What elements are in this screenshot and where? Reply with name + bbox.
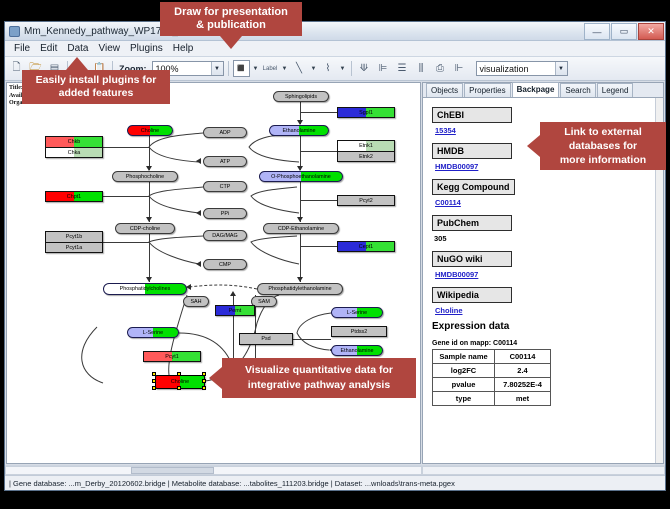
expression-value: 7.80252E-4 [495,378,551,392]
callout-link-line3: more information [560,153,646,167]
arrowhead-icon [146,277,152,282]
callout-draw-line2: & publication [196,19,266,32]
expression-key: Sample name [433,350,495,364]
status-bar: | Gene database: ...m_Derby_20120602.bri… [5,475,665,490]
minimize-button[interactable]: — [584,23,610,40]
gene-node[interactable]: Pcyt2 [337,195,395,206]
gene-row: Pemt [216,306,254,315]
gene-node[interactable]: Cept1 [337,241,395,252]
toolbar-separator [228,61,229,76]
print-icon[interactable]: ⎙ [432,60,449,77]
selection-handle[interactable] [152,379,156,383]
callout-visualize-line1: Visualize quantitative data for [245,363,393,378]
gene-label: Pemt [229,308,242,314]
gene-label: Etnk1 [359,143,373,149]
metabolite-label: Sphingolipids [285,94,317,100]
window-controls: — ▭ ✕ [584,22,665,40]
gene-node[interactable]: Pcyt1bPcyt1a [45,231,103,253]
align-left-icon[interactable]: ⊫ [375,60,392,77]
gene-row: Pcyt1b [46,232,102,242]
title-bar: Mm_Kennedy_pathway_WP1771_45176.gpml — ▭… [5,22,665,41]
metabolite-node[interactable]: L-Serine [127,327,179,338]
selection-handle[interactable] [202,372,206,376]
metabolite-label: L-Serine [143,330,163,336]
menu-plugins[interactable]: Plugins [125,42,168,56]
arrowhead-icon [297,277,303,282]
metabolite-label: SAH [190,299,201,305]
metabolite-label: CDP-Ethanolamine [278,226,324,232]
arrowhead-icon [196,261,201,267]
gene-label: Pcyt1 [165,354,178,360]
callout-draw-tail-icon [220,36,242,49]
gene-label: Chkb [68,139,81,145]
arrowhead-icon [230,291,236,296]
metabolite-label: SAM [258,299,270,305]
edge-psd-connector [293,339,331,340]
metabolite-label: ATP [220,159,230,165]
gene-node[interactable]: Pemt [215,305,255,316]
menu-data[interactable]: Data [62,42,93,56]
metabolite-node[interactable]: PPi [203,208,247,219]
database-link[interactable]: Choline [435,306,663,315]
database-name: ChEBI [432,107,512,123]
screenshot-root: Mm_Kennedy_pathway_WP1771_45176.gpml — ▭… [0,0,670,509]
label-chevron-down-icon[interactable]: ▼ [281,66,289,72]
callout-link-tail-icon [527,135,540,157]
callout-plugins-line1: Easily install plugins for [36,74,157,87]
line-chevron-down-icon[interactable]: ▼ [310,66,318,72]
gene-label: Pcyt1b [66,234,82,240]
menu-file[interactable]: File [9,42,35,56]
anchor-chevron-down-icon[interactable]: ▼ [339,66,347,72]
menu-edit[interactable]: Edit [35,42,62,56]
metabolite-node[interactable]: CDP-choline [115,223,175,234]
distribute-icon[interactable]: ⫼ [413,60,430,77]
database-block: NuGO wikiHMDB00097 [432,249,663,279]
metabolite-node[interactable]: SAH [183,296,209,307]
arrowhead-icon [196,210,201,216]
database-name: Wikipedia [432,287,512,303]
database-name: NuGO wiki [432,251,512,267]
expression-key: type [433,392,495,406]
maximize-button[interactable]: ▭ [611,23,637,40]
horizontal-scroll-row [5,465,665,475]
metabolite-label: Ethanolamine [283,128,316,134]
metabolite-node[interactable]: Ethanolamine [331,345,383,356]
database-name: PubChem [432,215,512,231]
callout-link-line2: databases for [569,139,637,153]
selection-handle[interactable] [152,386,156,390]
status-text: | Gene database: ...m_Derby_20120602.bri… [9,479,455,488]
database-value: 305 [434,234,663,243]
metabolite-label: CDP-choline [130,226,160,232]
menu-view[interactable]: View [93,42,125,56]
gene-row: Ptdss2 [332,327,386,336]
selection-handle[interactable] [152,372,156,376]
gene-node[interactable]: ChkbChka [45,136,103,158]
callout-draw-line1: Draw for presentation [174,6,288,19]
gene-label: Ptdss2 [351,329,367,335]
metabolite-node[interactable]: Phosphocholine [112,171,178,182]
metabolite-label: PPi [221,211,229,217]
gene-label: Cept1 [359,244,373,250]
metabolite-node[interactable]: Sphingolipids [273,91,329,102]
gene-node[interactable]: Pcyt1 [143,351,201,362]
callout-plugins: Easily install plugins for added feature… [22,70,170,104]
database-block: PubChem305 [432,213,663,243]
database-block: Kegg CompoundC00114 [432,177,663,207]
canvas-hscrollbar[interactable] [5,466,422,475]
arrowhead-icon [146,217,152,222]
arrowhead-icon [297,217,303,222]
callout-draw: Draw for presentation & publication [160,2,302,36]
gene-node[interactable]: Psd [239,333,293,345]
visualization-value: visualization [480,64,529,74]
gene-row: Pcyt1a [46,242,102,252]
anchor-icon[interactable]: ⌇ [320,60,337,77]
menu-help[interactable]: Help [168,42,199,56]
table-row: typemet [433,392,551,406]
expression-table: Sample nameC00114log2FC2.4pvalue7.80252E… [432,349,551,406]
database-name: HMDB [432,143,512,159]
align-icon[interactable]: ⟱ [356,60,373,77]
expression-value: met [495,392,551,406]
gene-label: Etnk2 [359,154,373,160]
expression-key: log2FC [433,364,495,378]
gene-label: Chka [68,150,81,156]
table-row: log2FC2.4 [433,364,551,378]
datanode-icon[interactable]: ⬛ [233,60,250,77]
database-name: Kegg Compound [432,179,515,195]
metabolite-node[interactable]: CDP-Ethanolamine [263,223,339,234]
callout-plugins-tail-icon [66,57,88,70]
arrowhead-icon [196,158,201,164]
callout-link-line1: Link to external [564,125,642,139]
metabolite-label: Choline [171,379,189,385]
callout-plugins-line2: added features [59,87,134,100]
table-row: Sample nameC00114 [433,350,551,364]
gene-row: Chkb [46,137,102,147]
gene-label: Pcyt2 [359,198,372,204]
gene-node[interactable]: Ptdss2 [331,326,387,337]
metabolite-label: Ethanolamine [341,348,374,354]
label-icon[interactable]: Label [262,60,279,77]
gene-row: Sgpl1 [338,108,394,117]
expression-value: C00114 [495,350,551,364]
tab-backpage[interactable]: Backpage [512,82,560,97]
panel-hscrollbar[interactable] [422,466,665,475]
metabolite-node[interactable]: CTP [203,181,247,192]
selection-handle[interactable] [202,379,206,383]
database-link[interactable]: HMDB00097 [435,270,663,279]
canvas-wrapper: Title: Availa Organi [5,81,422,465]
gene-label: Chpt1 [67,194,81,200]
selection-handle[interactable] [177,372,181,376]
visualization-combo[interactable]: visualization ▼ [476,61,568,76]
gene-row: Chpt1 [46,192,102,201]
expression-data-heading: Expression data [432,321,663,332]
metabolite-label: DAG/MAG [212,233,237,239]
selection-handle[interactable] [202,386,206,390]
metabolite-node[interactable]: Ethanolamine [269,125,329,136]
metabolite-node[interactable]: ADP [203,127,247,138]
gene-node[interactable]: Chpt1 [45,191,103,202]
database-link[interactable]: C00114 [435,198,663,207]
callout-visualize-line2: integrative pathway analysis [248,378,390,393]
metabolite-label: CTP [220,184,231,190]
metabolite-node[interactable]: Phosphatidylcholines [103,283,187,295]
metabolite-node[interactable]: L-Serine [331,307,383,318]
metabolite-node[interactable]: Phosphatidylethanolamine [257,283,343,295]
chevron-down-icon[interactable]: ▼ [211,62,223,75]
tab-objects[interactable]: Objects [426,83,463,97]
database-block: WikipediaCholine [432,285,663,315]
gene-node[interactable]: Sgpl1 [337,107,395,118]
panel-tabs: Objects Properties Backpage Search Legen… [423,83,663,98]
gene-row: Pcyt1 [144,352,200,361]
gene-row: Etnk2 [338,151,394,161]
selection-handle[interactable] [177,386,181,390]
close-button[interactable]: ✕ [638,23,664,40]
metabolite-label: CMP [219,262,231,268]
menu-bar: File Edit Data View Plugins Help [5,41,665,57]
stack-icon[interactable]: ☰ [394,60,411,77]
order-icon[interactable]: ⊩ [451,60,468,77]
expression-key: pvalue [433,378,495,392]
tab-legend[interactable]: Legend [597,83,634,97]
metabolite-node[interactable]: CMP [203,259,247,270]
metabolite-label: ADP [219,130,230,136]
tab-search[interactable]: Search [560,83,595,97]
metabolite-label: L-Serine [347,310,367,316]
metabolite-label: O-Phosphoethanolamine [271,174,331,180]
metabolite-node[interactable]: Choline [127,125,173,136]
metabolite-node[interactable]: DAG/MAG [203,230,247,241]
callout-link: Link to external databases for more info… [540,122,666,170]
gene-label: Sgpl1 [359,110,373,116]
gene-row: Psd [240,334,292,344]
tab-properties[interactable]: Properties [464,83,510,97]
toolbar-separator [351,61,352,76]
table-row: pvalue7.80252E-4 [433,378,551,392]
gene-node[interactable]: Etnk1Etnk2 [337,140,395,162]
scrollbar-thumb[interactable] [131,467,214,474]
callout-visualize: Visualize quantitative data for integrat… [222,358,416,398]
pathway-canvas[interactable]: Title: Availa Organi [6,82,421,464]
gene-label: Psd [261,336,270,342]
app-icon [9,26,20,37]
metabolite-label: Choline [141,128,159,134]
line-icon[interactable]: ╲ [291,60,308,77]
gene-row: Chka [46,147,102,157]
gene-row: Etnk1 [338,141,394,151]
gene-label: Pcyt1a [66,245,82,251]
expression-value: 2.4 [495,364,551,378]
metabolite-node[interactable]: O-Phosphoethanolamine [259,171,343,182]
metabolite-label: Phosphatidylcholines [120,286,171,292]
chevron-down-icon[interactable]: ▼ [555,62,567,75]
callout-visualize-tail-icon [209,367,222,389]
metabolite-label: Phosphatidylethanolamine [268,286,331,292]
gene-id-line: Gene id on mapp: C00114 [432,340,663,347]
datanode-chevron-down-icon[interactable]: ▼ [252,66,260,72]
gene-row: Pcyt2 [338,196,394,205]
metabolite-label: Phosphocholine [126,174,164,180]
gene-row: Cept1 [338,242,394,251]
metabolite-node[interactable]: ATP [203,156,247,167]
